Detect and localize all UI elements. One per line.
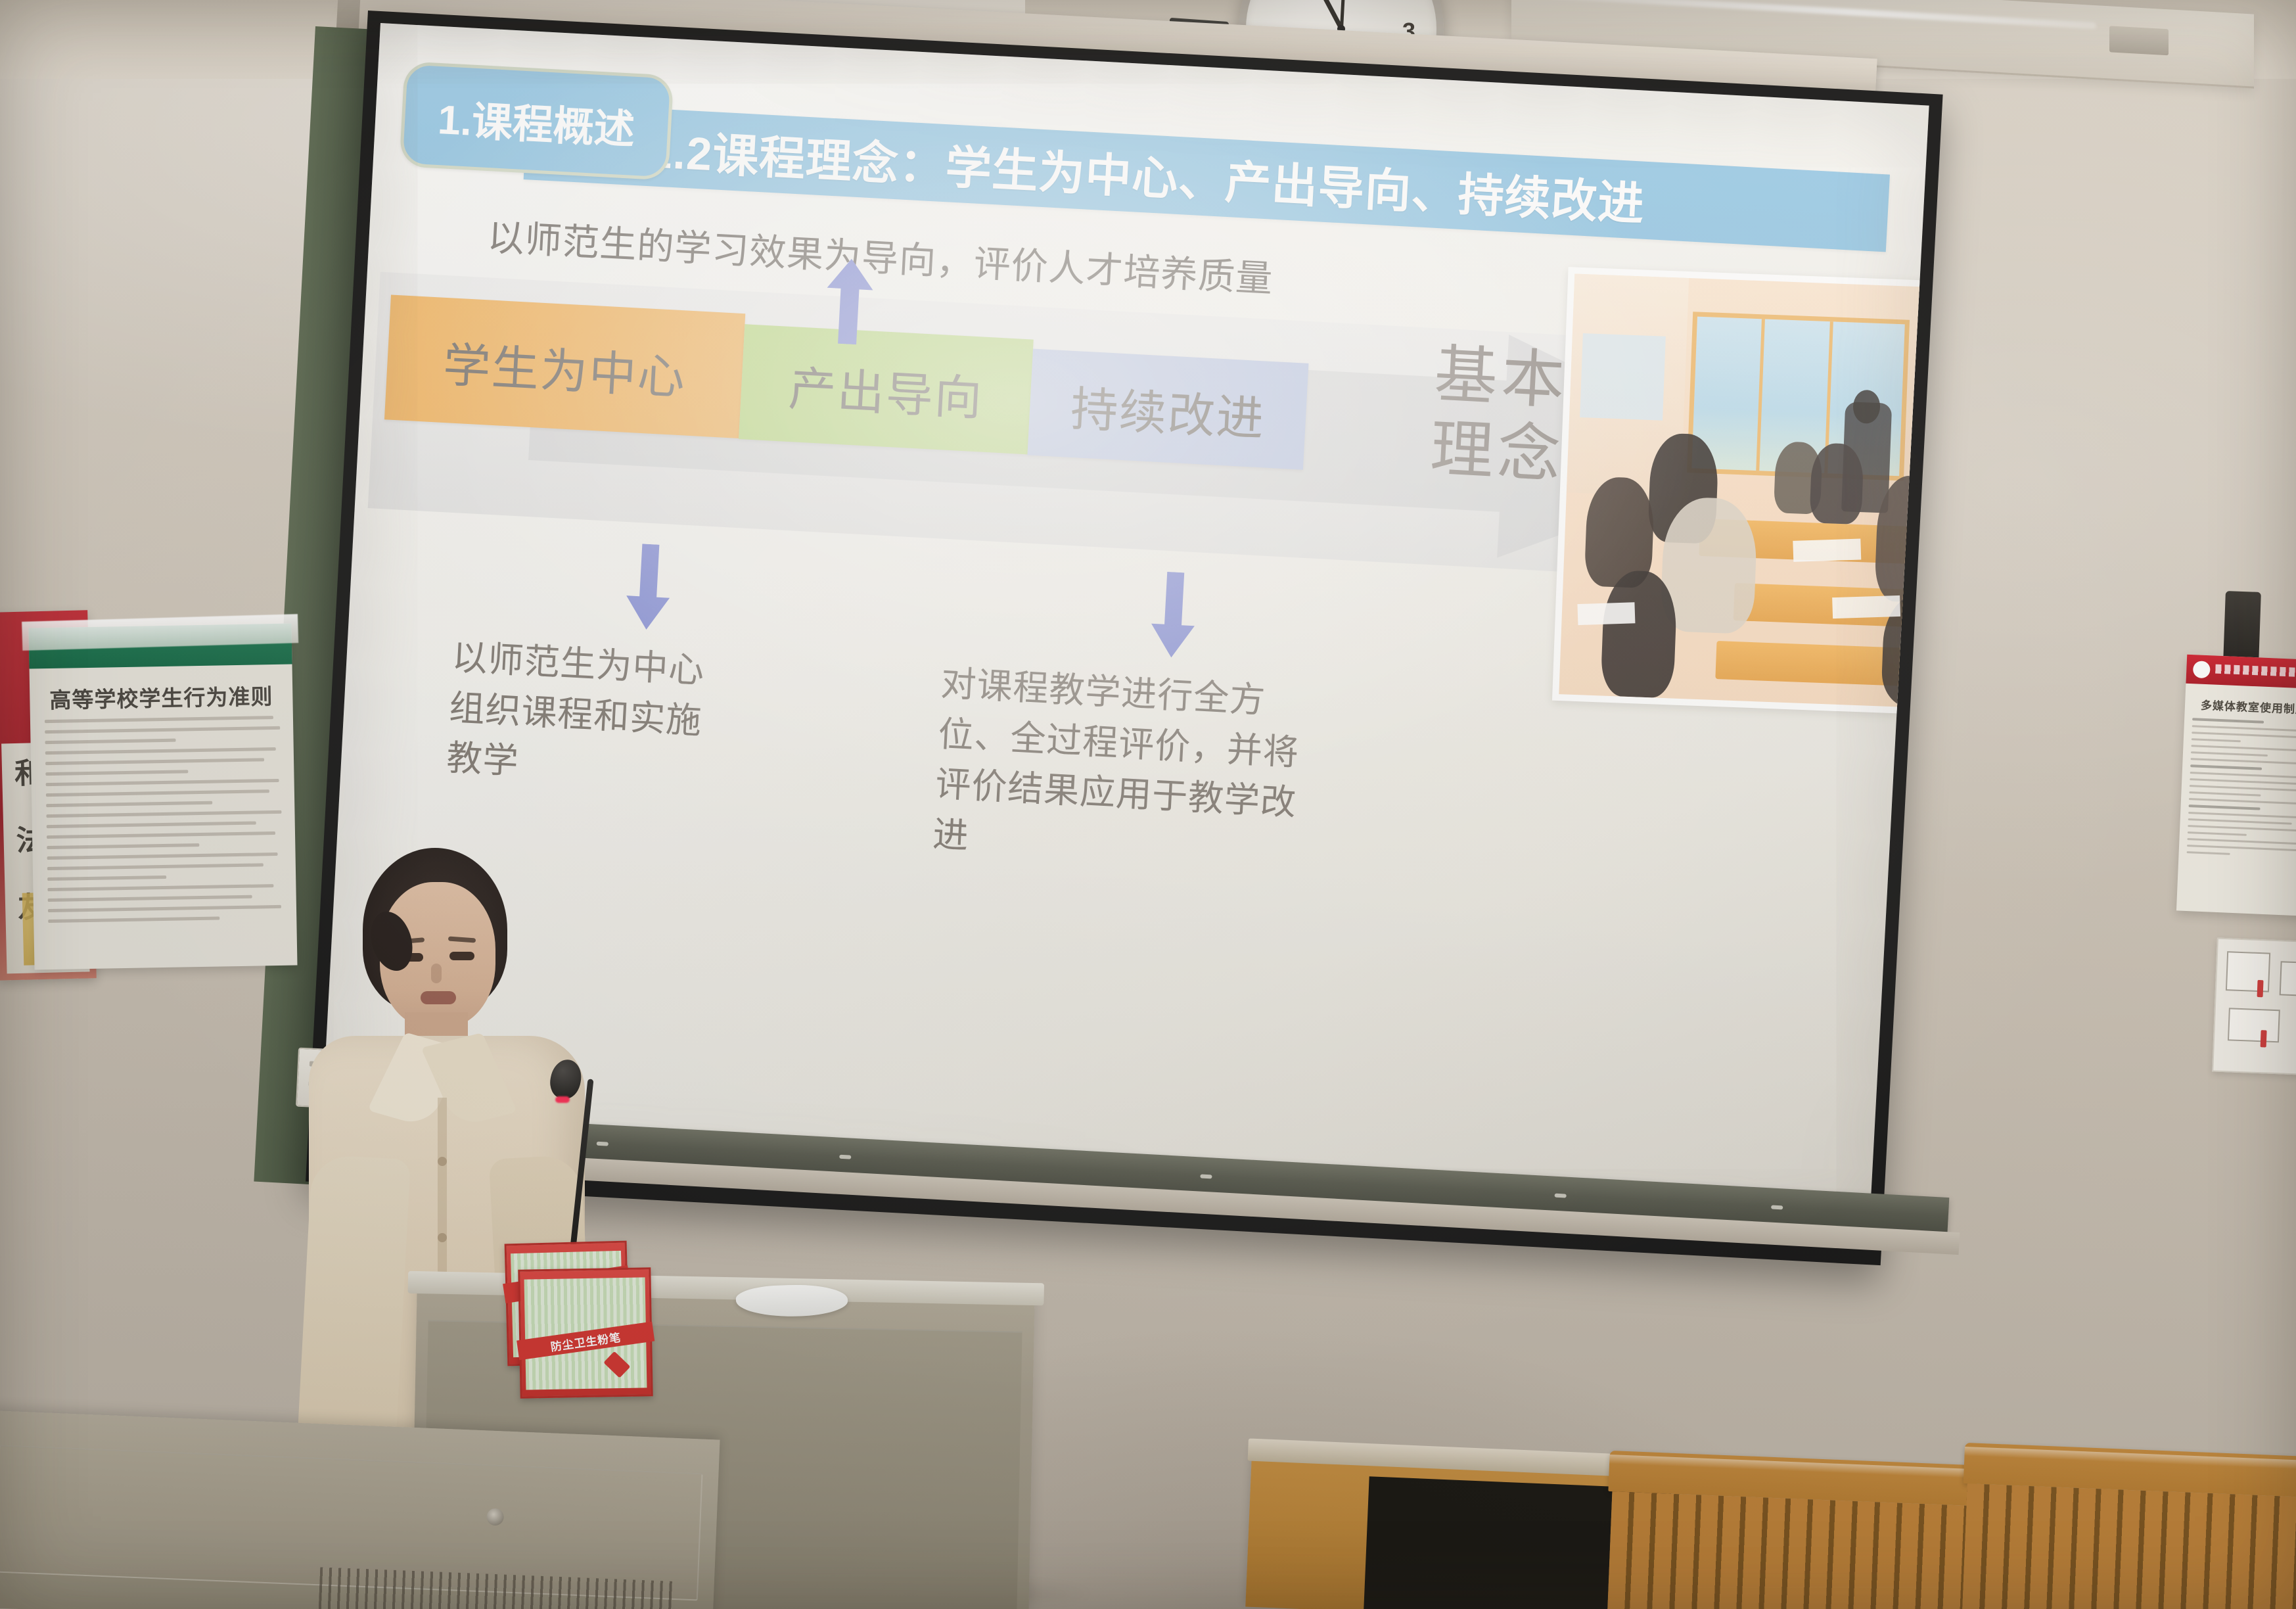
floorplan-exit-marker — [2257, 980, 2264, 997]
school-logo-icon — [2193, 661, 2211, 678]
left-poster-body-lines — [45, 716, 287, 930]
concept-box-outcome-oriented: 产出导向 — [739, 324, 1034, 454]
arrow-down-right-icon — [1149, 571, 1197, 659]
presenter-brow — [448, 937, 476, 943]
concept-heading-line1: 基本 — [1433, 337, 1571, 419]
teacher-console-cabinet — [0, 1411, 720, 1609]
chair-2 — [1958, 1443, 2296, 1609]
photo-paper — [1793, 539, 1861, 562]
floorplan-room — [2226, 951, 2270, 992]
chair-slats — [1962, 1483, 2296, 1609]
presenter-mouth — [421, 991, 456, 1004]
classroom-scene: 3 4 5 6 7 8 1.2课程理念：学生为中心、产出导向、持续改进 1.课程… — [0, 0, 2296, 1609]
chalk-dust — [597, 1142, 608, 1146]
left-poster-title: 高等学校学生行为准则 — [30, 679, 293, 715]
chair-slats — [1606, 1491, 1972, 1609]
slide-section-chip: 1.课程概述 — [399, 61, 674, 181]
arrow-down-left-icon — [625, 543, 673, 630]
chalk-dust — [1200, 1174, 1212, 1178]
photo-student — [1600, 570, 1678, 699]
chalk-dust — [1555, 1194, 1567, 1198]
right-poster-classroom-rules: 多媒体教室使用制度 — [2176, 655, 2296, 916]
concept-box-continuous-improvement: 持续改进 — [1027, 349, 1308, 470]
right-poster-title: 多媒体教室使用制度 — [2185, 695, 2296, 718]
photo-student — [1810, 442, 1865, 524]
concept-box-label: 学生为中心 — [442, 325, 688, 408]
photo-paper — [1577, 602, 1635, 625]
presenter-eye — [449, 952, 474, 960]
chalk-dust — [839, 1155, 851, 1159]
floorplan-room — [2228, 1008, 2280, 1042]
evacuation-floorplan — [2212, 938, 2296, 1077]
paragraph-right: 对课程教学进行全方位、全过程评价，并将评价结果应用于教学改进 — [931, 659, 1310, 879]
photo-wall-poster — [1580, 333, 1666, 421]
concept-box-label: 产出导向 — [787, 350, 985, 429]
floorplan-room — [2280, 961, 2296, 997]
concept-box-student-centered: 学生为中心 — [384, 294, 745, 438]
poster-header-band — [2186, 655, 2296, 689]
floorplan-exit-marker — [2261, 1030, 2267, 1047]
presenter-nose — [431, 964, 442, 983]
chalk-dust — [1771, 1205, 1783, 1209]
right-poster-body-lines — [2186, 718, 2296, 863]
arrow-up-icon — [824, 258, 875, 346]
presenter-shirt-button — [438, 1233, 447, 1242]
photo-window-mullion — [1756, 319, 1765, 470]
left-poster-student-code: 高等学校学生行为准则 — [28, 624, 297, 970]
concept-box-label: 持续改进 — [1069, 369, 1267, 449]
concept-heading-line2: 理念 — [1429, 411, 1567, 493]
chair-1 — [1603, 1451, 1977, 1609]
school-name-text — [2215, 665, 2296, 678]
microphone-status-led — [555, 1096, 570, 1103]
photo-paper — [1832, 595, 1900, 618]
presenter-shirt-button — [438, 1157, 447, 1166]
paragraph-left: 以师范生为中心组织课程和实施教学 — [446, 632, 736, 799]
wall-bracket-device — [2223, 591, 2261, 665]
slide-photo-content — [1559, 274, 1929, 714]
slide-title: 1.2课程理念：学生为中心、产出导向、持续改进 — [645, 114, 1647, 233]
slide-photo — [1552, 267, 1929, 720]
light-end-cap — [2109, 26, 2169, 55]
chalk-box-front: 防尘卫生粉笔 — [518, 1267, 653, 1398]
slide-section-label: 1.课程概述 — [436, 86, 636, 156]
light-tube — [1551, 0, 2096, 29]
concept-heading: 基本 理念 — [1429, 337, 1571, 493]
